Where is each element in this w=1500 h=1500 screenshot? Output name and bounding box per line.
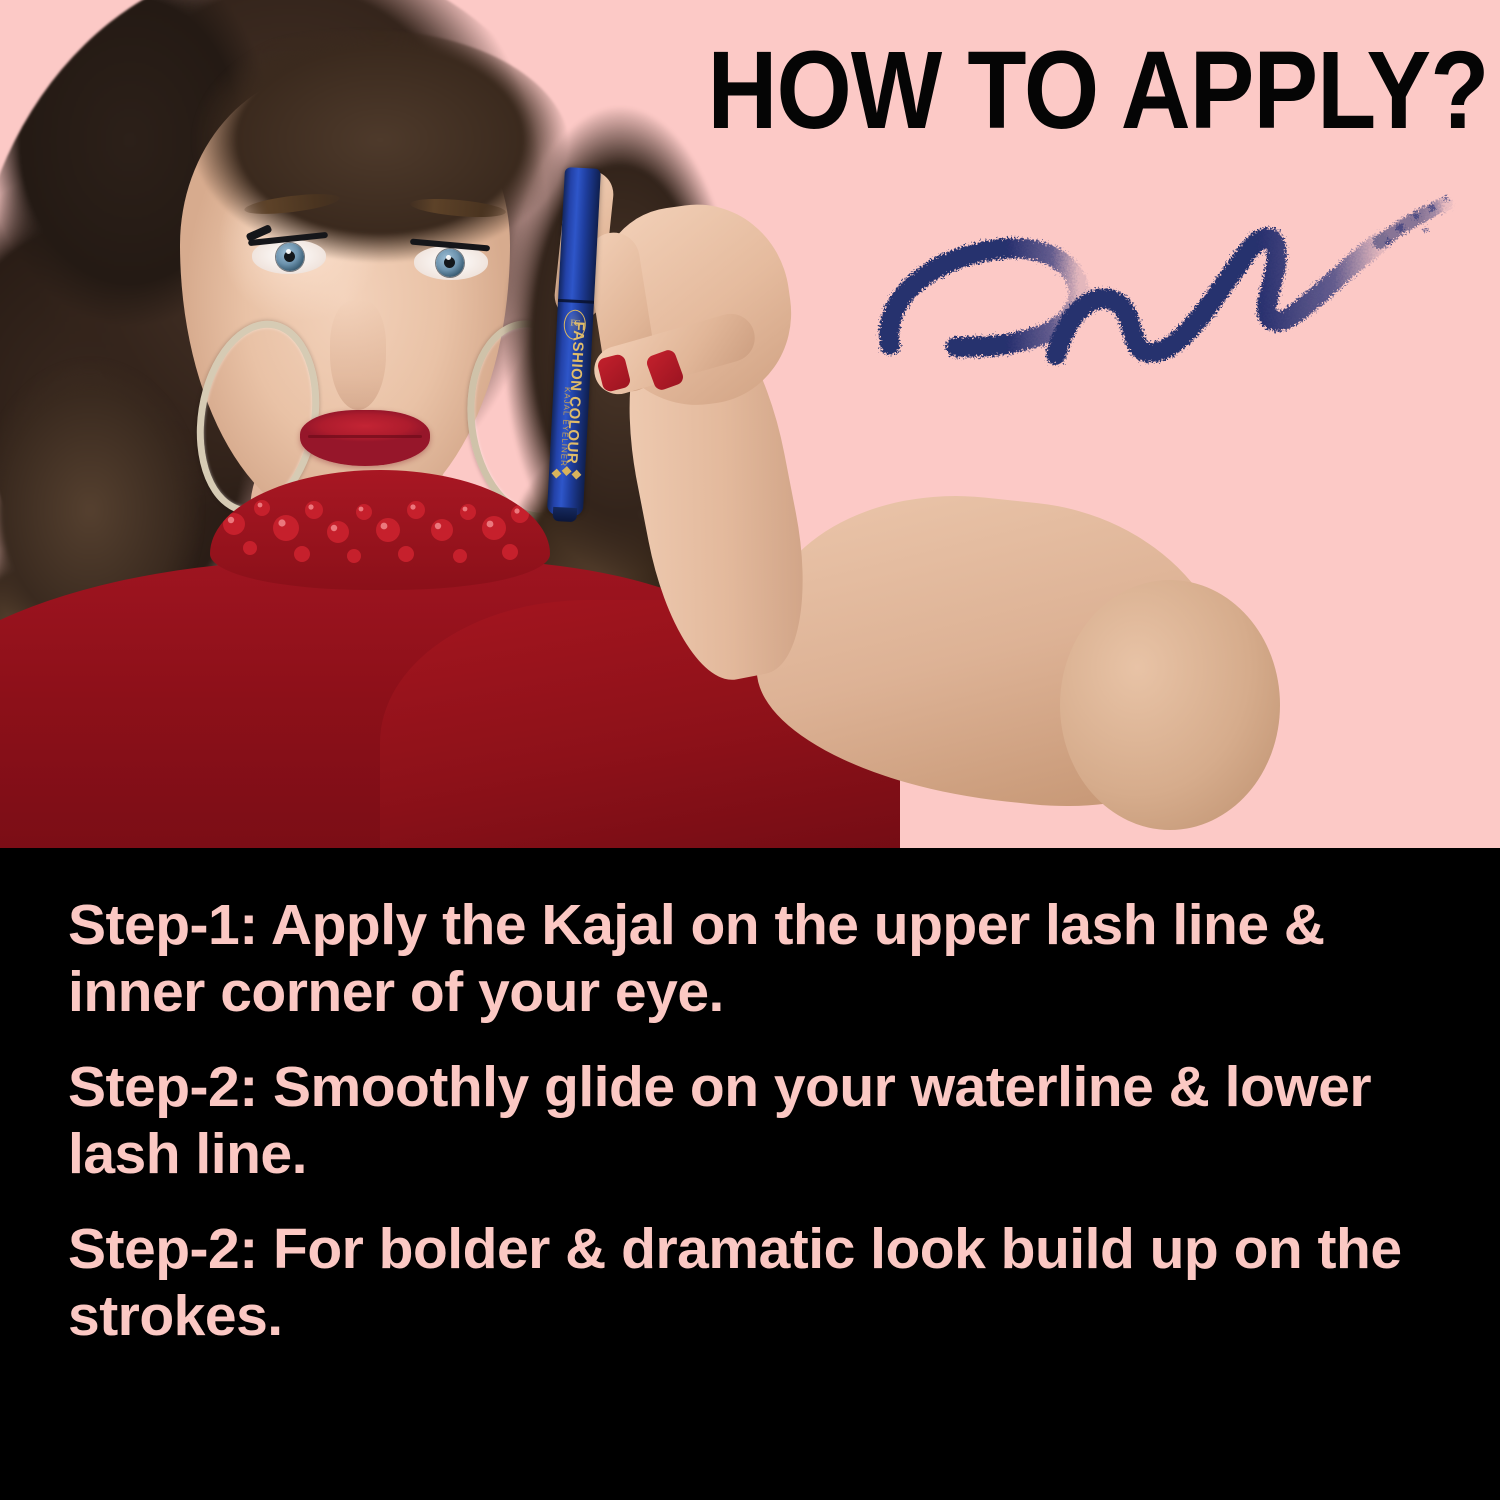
- step-item-3: Step-2: For bolder & dramatic look build…: [68, 1216, 1440, 1350]
- step-item-1: Step-1: Apply the Kajal on the upper las…: [68, 892, 1440, 1026]
- model-elbow: [1060, 580, 1280, 830]
- pencil-diamond-ornament: [553, 467, 582, 482]
- page-title: HOW TO APPLY?: [707, 36, 1488, 146]
- hero-photo-panel: FASHION COLOUR KAJAL EYELINER: [0, 0, 1500, 848]
- step-item-2: Step-2: Smoothly glide on your waterline…: [68, 1054, 1440, 1188]
- poster-root: FASHION COLOUR KAJAL EYELINER: [0, 0, 1500, 1500]
- model-lips: [300, 410, 430, 466]
- model-nose: [330, 300, 386, 410]
- instructions-panel: Step-1: Apply the Kajal on the upper las…: [0, 848, 1500, 1500]
- kajal-swatch-stroke: [860, 180, 1460, 390]
- eye-glint-left: [286, 249, 291, 254]
- eye-glint-right: [446, 255, 451, 260]
- pencil-tip: [552, 507, 577, 522]
- beaded-choker-collar: [210, 470, 550, 590]
- choker-beads: [210, 470, 550, 590]
